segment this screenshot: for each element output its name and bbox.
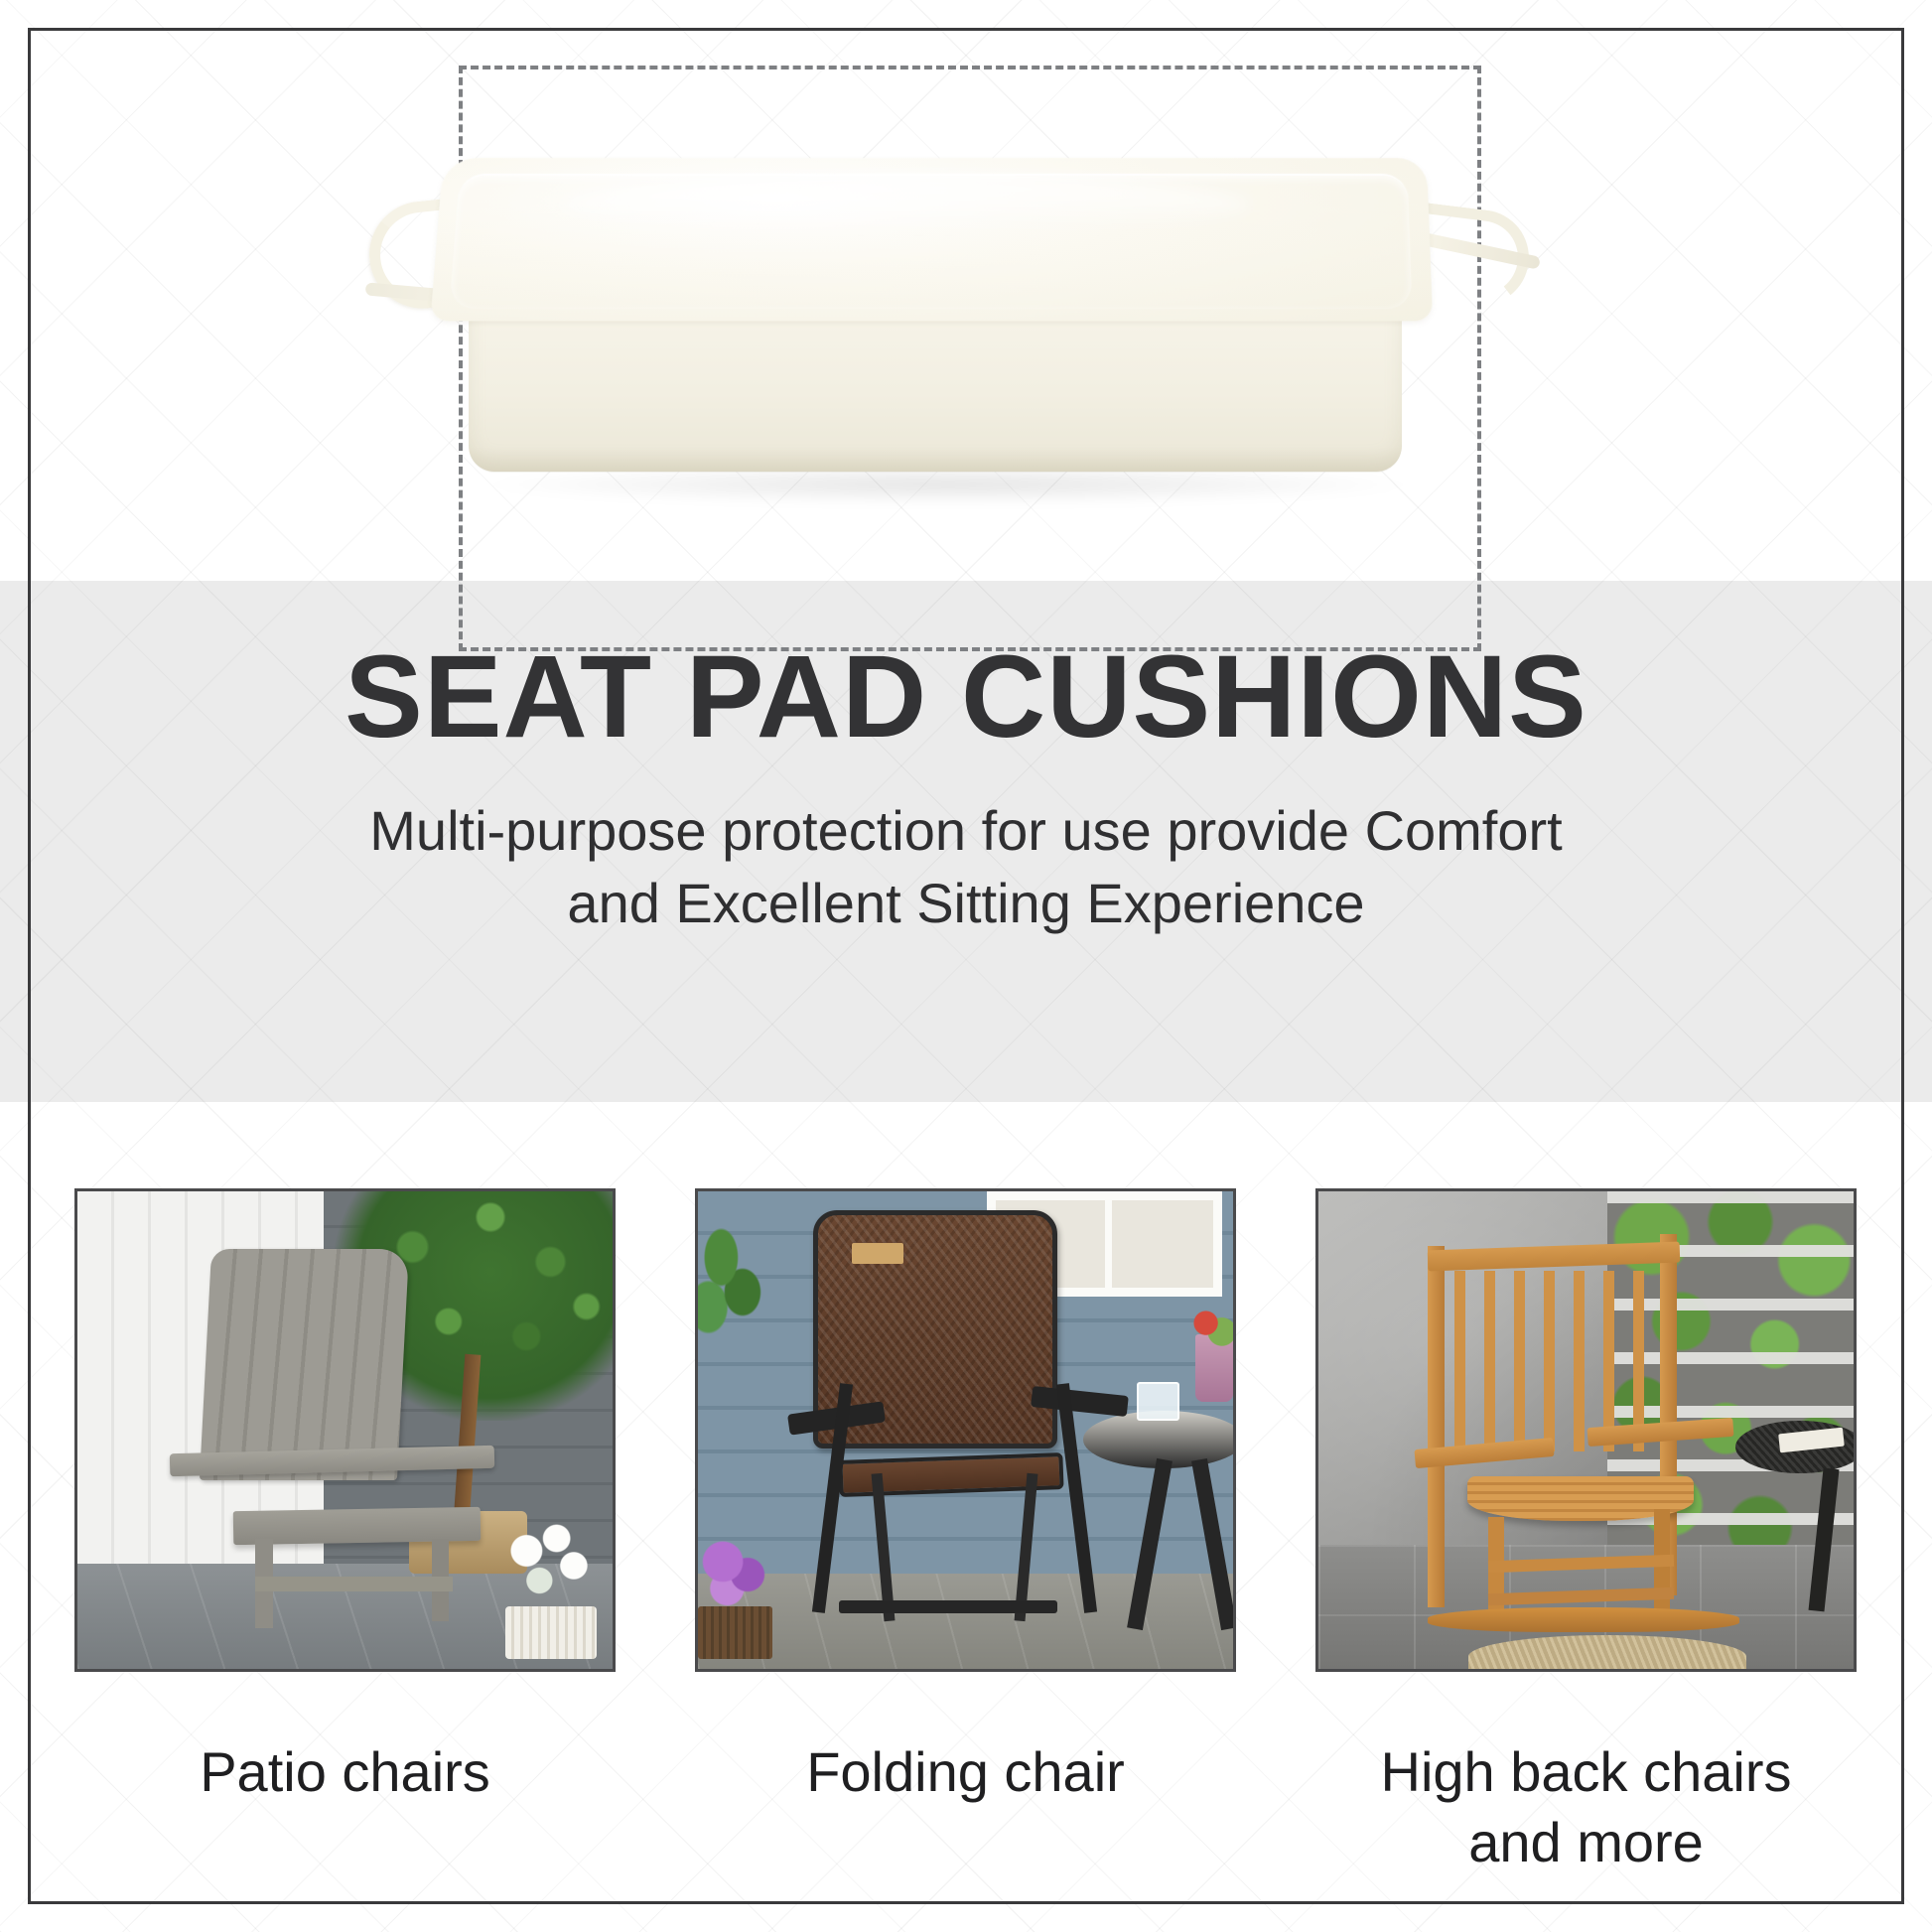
page-subtitle: Multi-purpose protection for use provide…	[0, 795, 1932, 940]
caption-patio-chairs: Patio chairs	[74, 1737, 616, 1808]
cushion-side-gusset	[469, 298, 1402, 472]
brand-logo-badge	[852, 1243, 903, 1264]
chair-stretcher	[255, 1577, 453, 1591]
green-plant	[695, 1220, 772, 1344]
page-title: SEAT PAD CUSHIONS	[0, 638, 1932, 756]
headline-text-layer: SEAT PAD CUSHIONS Multi-purpose protecti…	[0, 581, 1932, 1102]
photo-card-folding-chair	[695, 1188, 1236, 1672]
caption-high-back-line-2: and more	[1315, 1808, 1857, 1878]
adirondack-chair	[163, 1249, 516, 1621]
photo-card-high-back-chairs	[1315, 1188, 1857, 1672]
chair-rocker-runner	[1428, 1607, 1739, 1632]
use-case-photo-row	[0, 1102, 1932, 1737]
cushion-highlight	[556, 176, 1251, 234]
chair-leg-front-left	[872, 1473, 896, 1621]
rattan-folding-chair	[794, 1210, 1115, 1621]
photo-card-patio-chairs	[74, 1188, 616, 1672]
caption-folding-chair: Folding chair	[695, 1737, 1236, 1808]
page-subtitle-line-1: Multi-purpose protection for use provide…	[0, 795, 1932, 868]
purple-flowers	[695, 1535, 778, 1611]
cushion-top-surface	[430, 158, 1433, 321]
caption-high-back-line-1: High back chairs	[1315, 1737, 1857, 1808]
woven-rug	[1468, 1635, 1746, 1672]
wicker-basket	[505, 1606, 597, 1659]
wicker-planter	[698, 1606, 772, 1659]
chair-post-left	[1428, 1246, 1445, 1607]
vase-flowers	[1184, 1306, 1236, 1348]
seat-pad-cushion-image	[427, 149, 1469, 546]
page-subtitle-line-2: and Excellent Sitting Experience	[0, 868, 1932, 940]
chair-top-rail	[1428, 1242, 1681, 1272]
chair-leg-rear-right	[1056, 1383, 1097, 1612]
chair-rung-upper	[1487, 1555, 1673, 1574]
chair-cross-bar	[839, 1600, 1057, 1612]
chair-backrest	[200, 1249, 409, 1480]
chair-rung-lower	[1487, 1587, 1673, 1606]
drinking-glass	[1137, 1382, 1179, 1420]
product-infographic: SEAT PAD CUSHIONS Multi-purpose protecti…	[0, 0, 1932, 1932]
photo-captions: Patio chairs Folding chair High back cha…	[0, 1737, 1932, 1932]
scene-rocking-chair	[1318, 1191, 1854, 1669]
scene-folding-chair	[698, 1191, 1233, 1669]
scene-patio-chair	[77, 1191, 613, 1669]
caption-high-back-chairs: High back chairs and more	[1315, 1737, 1857, 1877]
chair-leg-front-right	[1015, 1473, 1038, 1621]
wooden-rocking-chair	[1415, 1229, 1746, 1640]
